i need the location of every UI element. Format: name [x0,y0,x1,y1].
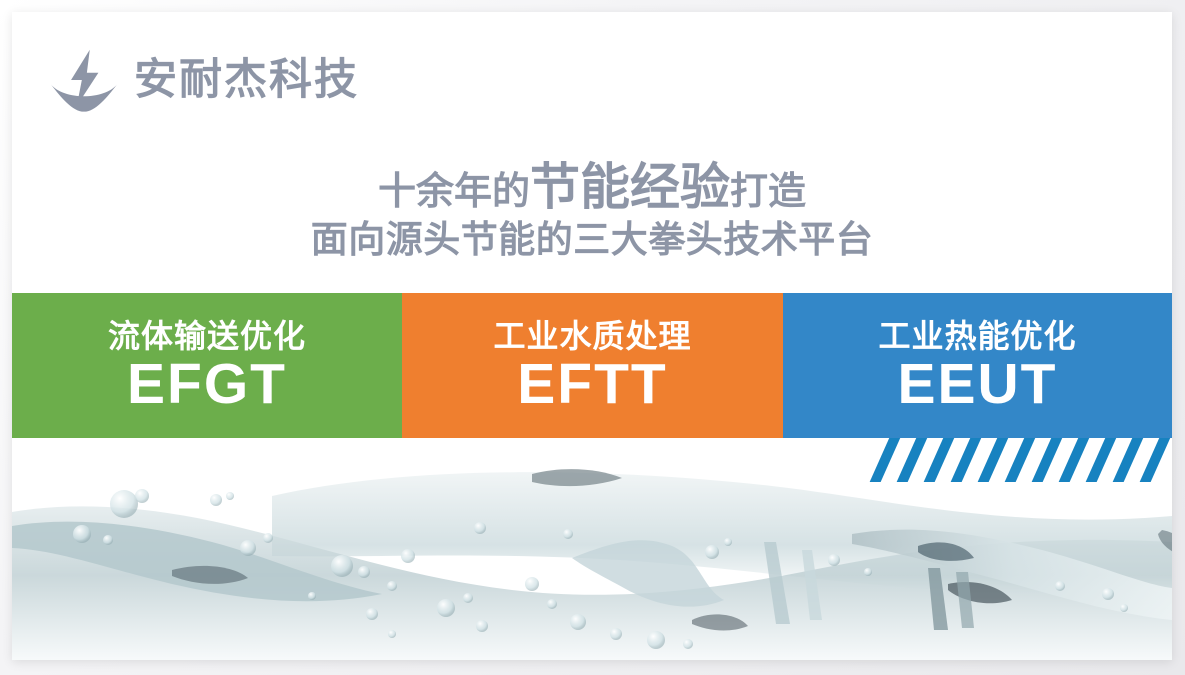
platform-title: 工业水质处理 [493,320,691,354]
platform-title: 工业热能优化 [878,320,1076,354]
platform-card-industrial-thermal-optimization[interactable]: 工业热能优化 EEUT [783,293,1172,438]
diagonal-stripe [919,438,958,482]
company-logo: 安耐杰科技 [48,44,359,116]
headline-block: 十余年的节能经验打造 面向源头节能的三大拳头技术平台 [12,160,1172,262]
diagonal-stripe [1108,438,1147,482]
platform-card-industrial-water-treatment[interactable]: 工业水质处理 EFTT [402,293,783,438]
slide-backdrop: 安耐杰科技 十余年的节能经验打造 面向源头节能的三大拳头技术平台 流体输送优化 … [0,0,1185,675]
diagonal-stripe [865,438,904,482]
headline-line-1: 十余年的节能经验打造 [12,160,1172,215]
headline-line-2: 面向源头节能的三大拳头技术平台 [12,218,1172,262]
platform-band: 流体输送优化 EFGT 工业水质处理 EFTT 工业热能优化 EEUT [12,293,1172,438]
platform-code: EFGT [127,355,287,415]
diagonal-stripe [1054,438,1093,482]
diagonal-stripes-decoration [865,438,1172,482]
lightning-bolt-over-arc-icon [48,44,120,116]
platform-card-fluid-transport-optimization[interactable]: 流体输送优化 EFGT [12,293,402,438]
platform-title: 流体输送优化 [108,320,306,354]
platform-code: EEUT [897,355,1057,415]
slide-canvas: 安耐杰科技 十余年的节能经验打造 面向源头节能的三大拳头技术平台 流体输送优化 … [12,12,1172,660]
diagonal-stripe [946,438,985,482]
diagonal-stripe [973,438,1012,482]
headline-emphasis: 节能经验 [530,159,730,215]
diagonal-stripe [1027,438,1066,482]
company-name: 安耐杰科技 [134,59,359,102]
diagonal-stripe [1081,438,1120,482]
diagonal-stripe [1135,438,1172,482]
headline-prefix: 十余年的 [378,171,530,213]
diagonal-stripe [892,438,931,482]
diagonal-stripe [1000,438,1039,482]
platform-code: EFTT [517,355,667,415]
headline-suffix: 打造 [730,171,806,213]
